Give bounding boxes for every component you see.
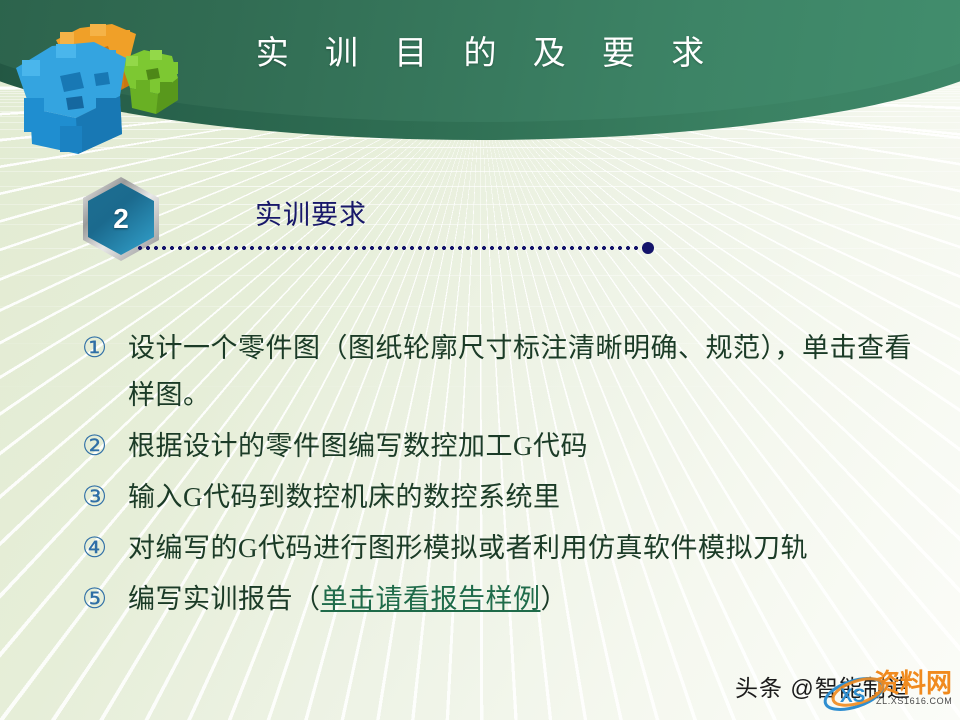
site-url-watermark: ZL.XS1616.COM xyxy=(876,696,952,706)
voxel-gears-icon xyxy=(8,2,198,162)
dotted-rule-endpoint xyxy=(642,242,654,254)
svg-text:XS: XS xyxy=(840,686,865,707)
list-item: ②根据设计的零件图编写数控加工G代码 xyxy=(82,423,932,470)
list-item-text: 设计一个零件图（图纸轮廓尺寸标注清晰明确、规范），单击查看样图。 xyxy=(128,325,932,419)
section-header: 2 实训要求 xyxy=(0,172,960,272)
list-item-marker: ② xyxy=(82,423,128,470)
list-item: ③输入G代码到数控机床的数控系统里 xyxy=(82,474,932,521)
slide: 实 训 目 的 及 要 求 xyxy=(0,0,960,720)
list-item-text: 根据设计的零件图编写数控加工G代码 xyxy=(128,423,932,470)
list-item-marker: ④ xyxy=(82,525,128,572)
list-item-text-after: ） xyxy=(541,584,569,614)
list-item-marker: ③ xyxy=(82,474,128,521)
list-item-text: 编写实训报告（单击请看报告样例） xyxy=(128,576,932,623)
requirements-list: ①设计一个零件图（图纸轮廓尺寸标注清晰明确、规范），单击查看样图。②根据设计的零… xyxy=(82,325,932,627)
list-item-marker: ⑤ xyxy=(82,576,128,623)
depth-line xyxy=(0,306,960,307)
section-title: 实训要求 xyxy=(255,193,367,232)
list-item: ⑤编写实训报告（单击请看报告样例） xyxy=(82,576,932,623)
list-item: ①设计一个零件图（图纸轮廓尺寸标注清晰明确、规范），单击查看样图。 xyxy=(82,325,932,419)
site-logo-watermark: 资料网 XS xyxy=(818,662,960,714)
report-sample-link[interactable]: 单击请看报告样例 xyxy=(321,584,541,614)
dotted-rule xyxy=(136,245,648,251)
list-item: ④对编写的G代码进行图形模拟或者利用仿真软件模拟刀轨 xyxy=(82,525,932,572)
list-item-text: 对编写的G代码进行图形模拟或者利用仿真软件模拟刀轨 xyxy=(128,525,932,572)
svg-text:资料网: 资料网 xyxy=(874,668,952,698)
list-item-text-before: 编写实训报告（ xyxy=(128,584,321,614)
list-item-marker: ① xyxy=(82,325,128,372)
list-item-text: 输入G代码到数控机床的数控系统里 xyxy=(128,474,932,521)
depth-line xyxy=(0,275,960,276)
